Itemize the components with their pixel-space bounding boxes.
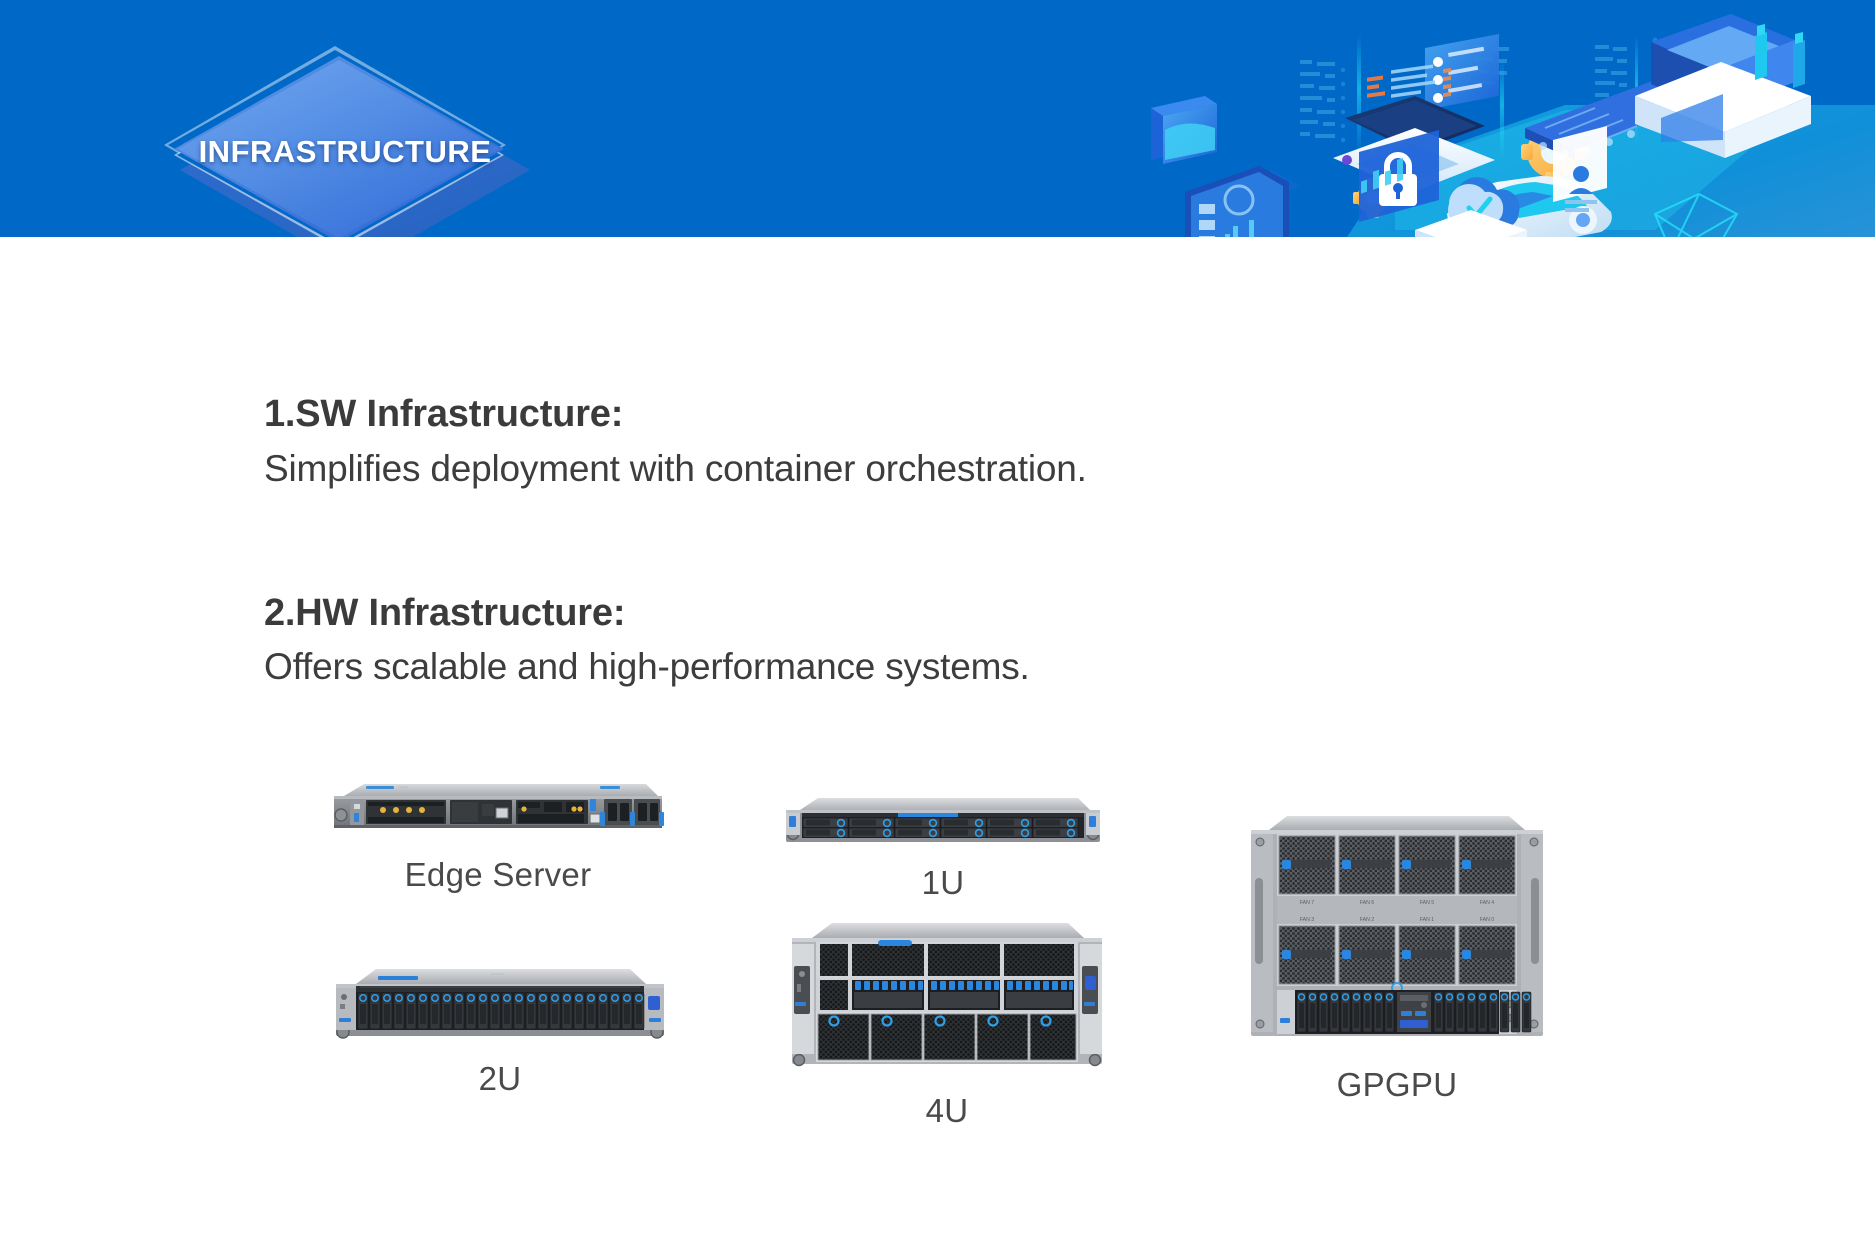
fan-label: FAN 1 — [1420, 917, 1435, 923]
server-gallery: Edge Server — [0, 760, 1875, 1200]
fan-row-bottom — [1277, 924, 1517, 993]
caption-gpgpu: GPGPU — [1222, 1066, 1572, 1104]
platform-shape — [1305, 105, 1875, 237]
edge-server-image — [328, 782, 668, 842]
drive-bays-gpgpu — [1277, 990, 1531, 1034]
fan-label: FAN 7 — [1300, 900, 1315, 906]
hw-heading: 2.HW Infrastructure: — [264, 589, 1564, 638]
bottle-icon — [1755, 24, 1805, 88]
drive-bay-row — [803, 818, 848, 838]
server-card-2u: 2U — [300, 966, 700, 1098]
gear-icon — [1353, 178, 1393, 218]
conveyor-icon — [1525, 80, 1705, 160]
gear-icon-large — [1521, 120, 1585, 184]
fan-label: FAN 4 — [1480, 900, 1495, 906]
data-stream-icon — [1300, 35, 1669, 160]
server-4u-image — [782, 918, 1112, 1078]
fan-label: FAN 5 — [1420, 900, 1435, 906]
fan-label: FAN 3 — [1300, 917, 1315, 923]
fan-label: FAN 0 — [1480, 917, 1495, 923]
server-2u-image — [330, 966, 670, 1046]
checklist-panel-icon — [1425, 34, 1499, 110]
chart-card-icon — [1339, 158, 1461, 237]
io-module — [1397, 992, 1431, 1032]
folder-icon — [1151, 96, 1217, 164]
caption-edge-server: Edge Server — [298, 856, 698, 894]
body-content: 1.SW Infrastructure: Simplifies deployme… — [264, 390, 1564, 691]
content-block-sw: 1.SW Infrastructure: Simplifies deployme… — [264, 390, 1564, 493]
caption-4u: 4U — [752, 1092, 1142, 1130]
fan-label: FAN 6 — [1360, 900, 1375, 906]
page-header: INFRASTRUCTURE — [0, 0, 1875, 237]
server-card-1u: 1U — [748, 796, 1138, 902]
cloud-database-icon — [1415, 177, 1527, 237]
chart-icon — [1655, 194, 1737, 237]
content-block-hw: 2.HW Infrastructure: Offers scalable and… — [264, 589, 1564, 692]
isometric-tech-illustration — [1095, 0, 1875, 237]
car-icon — [1447, 176, 1612, 237]
infrastructure-badge: INFRASTRUCTURE — [170, 52, 520, 237]
sw-body: Simplifies deployment with container orc… — [264, 445, 1564, 493]
sw-heading: 1.SW Infrastructure: — [264, 390, 1564, 439]
laptop-icon — [1333, 64, 1495, 192]
server-1u-image — [778, 796, 1108, 850]
server-card-edge: Edge Server — [298, 782, 698, 894]
caption-1u: 1U — [748, 864, 1138, 902]
server-card-gpgpu: FAN 7 FAN 6 FAN 5 FAN 4 FAN 3 FAN 2 FAN … — [1222, 812, 1572, 1104]
lock-icon — [1359, 130, 1439, 222]
id-card-icon — [1553, 126, 1607, 212]
badge-label: INFRASTRUCTURE — [170, 52, 520, 237]
hw-body: Offers scalable and high-performance sys… — [264, 643, 1564, 691]
fan-row-top — [1277, 834, 1517, 896]
server-gpgpu-image: FAN 7 FAN 6 FAN 5 FAN 4 FAN 3 FAN 2 FAN … — [1247, 812, 1547, 1052]
smartphone-dashboard-icon — [1181, 166, 1301, 237]
caption-2u: 2U — [300, 1060, 700, 1098]
fan-label: FAN 2 — [1360, 917, 1375, 923]
server-card-4u: 4U — [752, 918, 1142, 1130]
factory-machine-icon — [1635, 14, 1811, 158]
